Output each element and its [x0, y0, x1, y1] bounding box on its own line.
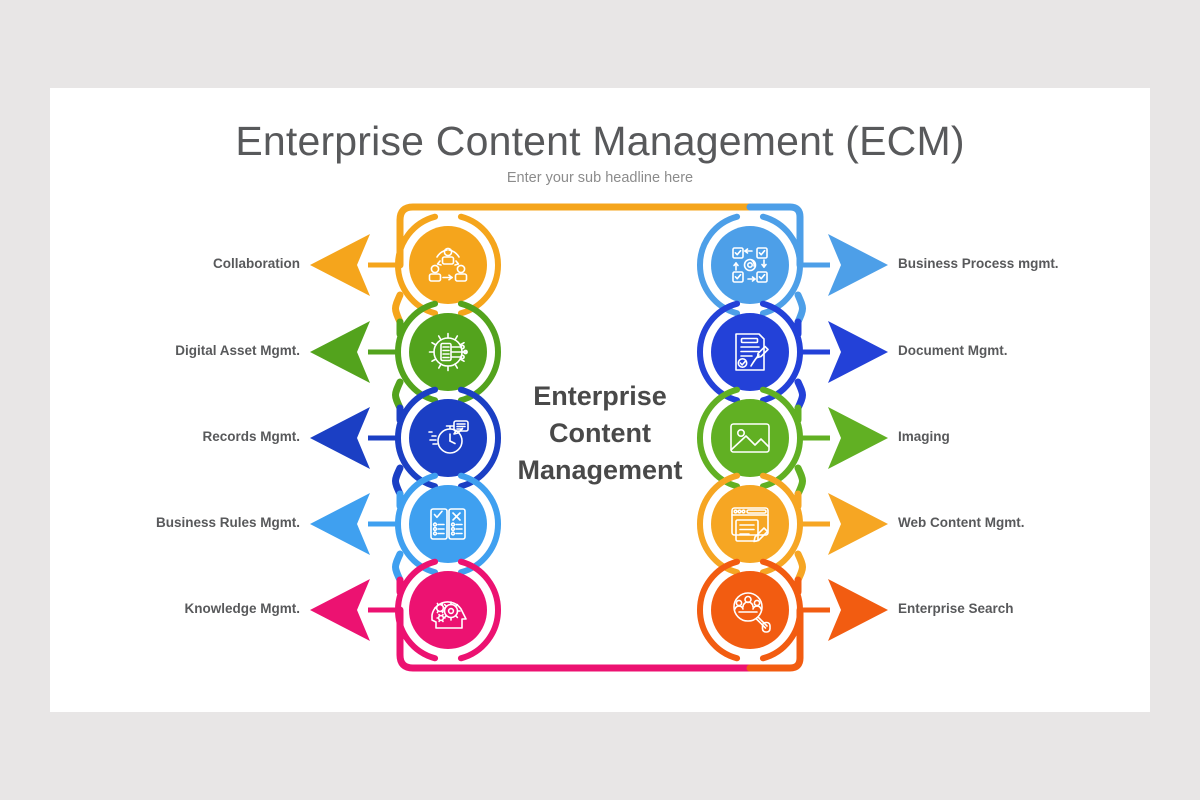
- right-node-label: Business Process mgmt.: [898, 256, 1059, 271]
- node-disc: [409, 313, 487, 391]
- left-node-business-rules-mgmt[interactable]: [310, 476, 498, 573]
- node-arrow-head: [828, 234, 888, 296]
- left-node-records-mgmt[interactable]: [310, 390, 498, 487]
- node-arrow-head: [828, 321, 888, 383]
- node-disc: [711, 571, 789, 649]
- right-node-document-mgmt[interactable]: [700, 304, 888, 401]
- node-arrow-head: [828, 407, 888, 469]
- left-node-label: Digital Asset Mgmt.: [175, 343, 300, 358]
- right-node-imaging[interactable]: [700, 390, 888, 487]
- left-node-knowledge-mgmt[interactable]: [310, 562, 498, 659]
- node-arrow-head: [828, 579, 888, 641]
- node-disc: [711, 226, 789, 304]
- node-disc: [409, 226, 487, 304]
- right-node-label: Imaging: [898, 429, 950, 444]
- left-node-label: Knowledge Mgmt.: [185, 601, 301, 616]
- node-arrow-head: [310, 321, 370, 383]
- right-node-business-process-mgmt[interactable]: [700, 217, 888, 314]
- node-arrow-head: [310, 493, 370, 555]
- node-arrow-head: [310, 407, 370, 469]
- right-node-web-content-mgmt[interactable]: [700, 476, 888, 573]
- node-graphics: [50, 88, 1150, 712]
- node-disc: [711, 399, 789, 477]
- node-disc: [711, 485, 789, 563]
- node-disc: [409, 399, 487, 477]
- right-node-enterprise-search[interactable]: [700, 562, 888, 659]
- left-node-label: Collaboration: [213, 256, 300, 271]
- right-node-label: Web Content Mgmt.: [898, 515, 1024, 530]
- node-disc: [409, 485, 487, 563]
- left-node-label: Records Mgmt.: [202, 429, 300, 444]
- node-arrow-head: [310, 234, 370, 296]
- left-node-digital-asset-mgmt[interactable]: [310, 304, 498, 401]
- node-arrow-head: [828, 493, 888, 555]
- right-node-label: Document Mgmt.: [898, 343, 1008, 358]
- slide-canvas: Enterprise Content Management (ECM) Ente…: [50, 88, 1150, 712]
- left-node-collaboration[interactable]: [310, 217, 498, 314]
- right-node-label: Enterprise Search: [898, 601, 1014, 616]
- node-arrow-head: [310, 579, 370, 641]
- left-node-label: Business Rules Mgmt.: [156, 515, 300, 530]
